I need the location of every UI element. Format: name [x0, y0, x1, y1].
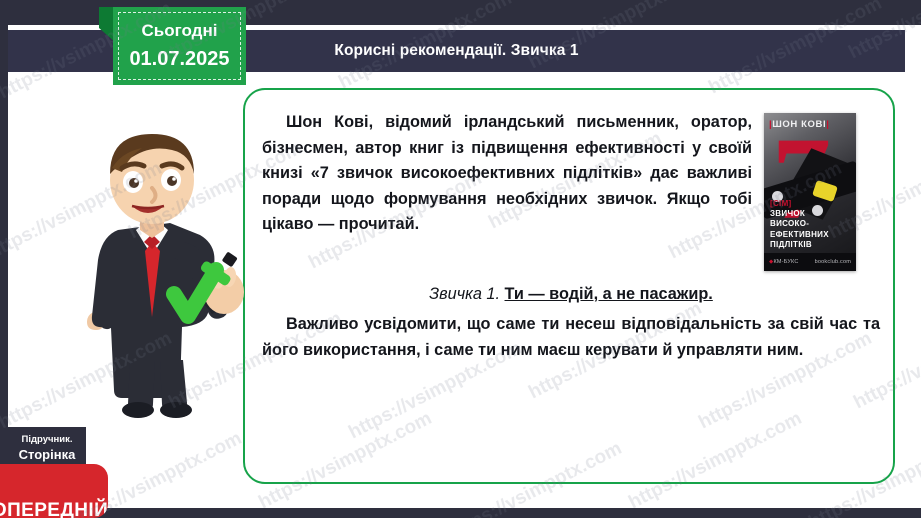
date-badge: Сьогодні 01.07.2025: [113, 7, 246, 85]
habit-heading: Звичка 1. Ти — водій, а не пасажир.: [262, 282, 880, 306]
book-cover-footer: ◆КМ-БУКС bookclub.com: [764, 253, 856, 271]
left-chrome-edge: [0, 0, 8, 518]
slide-root: 7 |ШОН КОВІ| [СІМ] ЗВИЧОК ВИСОКО- ЕФЕКТИ…: [0, 0, 921, 518]
book-author-name: |ШОН КОВІ|: [769, 119, 829, 130]
previous-slide-label: ПОПЕРЕДНІЙ: [0, 500, 108, 518]
textbook-label-line-1: Підручник.: [22, 435, 73, 446]
book-publisher-left: ◆КМ-БУКС: [769, 259, 799, 265]
book-publisher-right: bookclub.com: [815, 259, 851, 265]
paragraph-intro: Шон Кові, відомий ірландський письменник…: [262, 110, 752, 238]
book-title-line-4: ЕФЕКТИВНИХ: [770, 230, 829, 240]
businessman-illustration: [48, 118, 260, 418]
book-title-block: [СІМ] ЗВИЧОК ВИСОКО- ЕФЕКТИВНИХ ПІДЛІТКІ…: [770, 199, 829, 250]
date-badge-value: 01.07.2025: [129, 48, 229, 71]
textbook-label-line-2: Сторінка: [19, 448, 76, 463]
book-author-dash-end: |: [826, 119, 829, 130]
previous-slide-button[interactable]: ПОПЕРЕДНІЙ: [0, 464, 108, 518]
paragraph-habit-body: Важливо усвідомити, що саме ти несеш від…: [262, 312, 880, 363]
book-title-line-1: [СІМ]: [770, 199, 829, 209]
book-cover-image: 7 |ШОН КОВІ| [СІМ] ЗВИЧОК ВИСОКО- ЕФЕКТИ…: [764, 113, 856, 271]
book-title-line-5: ПІДЛІТКІВ: [770, 240, 829, 250]
bottom-chrome-bar: [0, 508, 921, 518]
date-badge-label: Сьогодні: [142, 21, 218, 41]
book-title-line-2: ЗВИЧОК: [770, 209, 829, 219]
book-title-line-3: ВИСОКО-: [770, 219, 829, 229]
page-title: Корисні рекомендації. Звичка 1: [334, 42, 578, 60]
habit-number-label: Звичка 1.: [429, 285, 500, 303]
habit-title-label: Ти — водій, а не пасажир.: [505, 285, 713, 303]
